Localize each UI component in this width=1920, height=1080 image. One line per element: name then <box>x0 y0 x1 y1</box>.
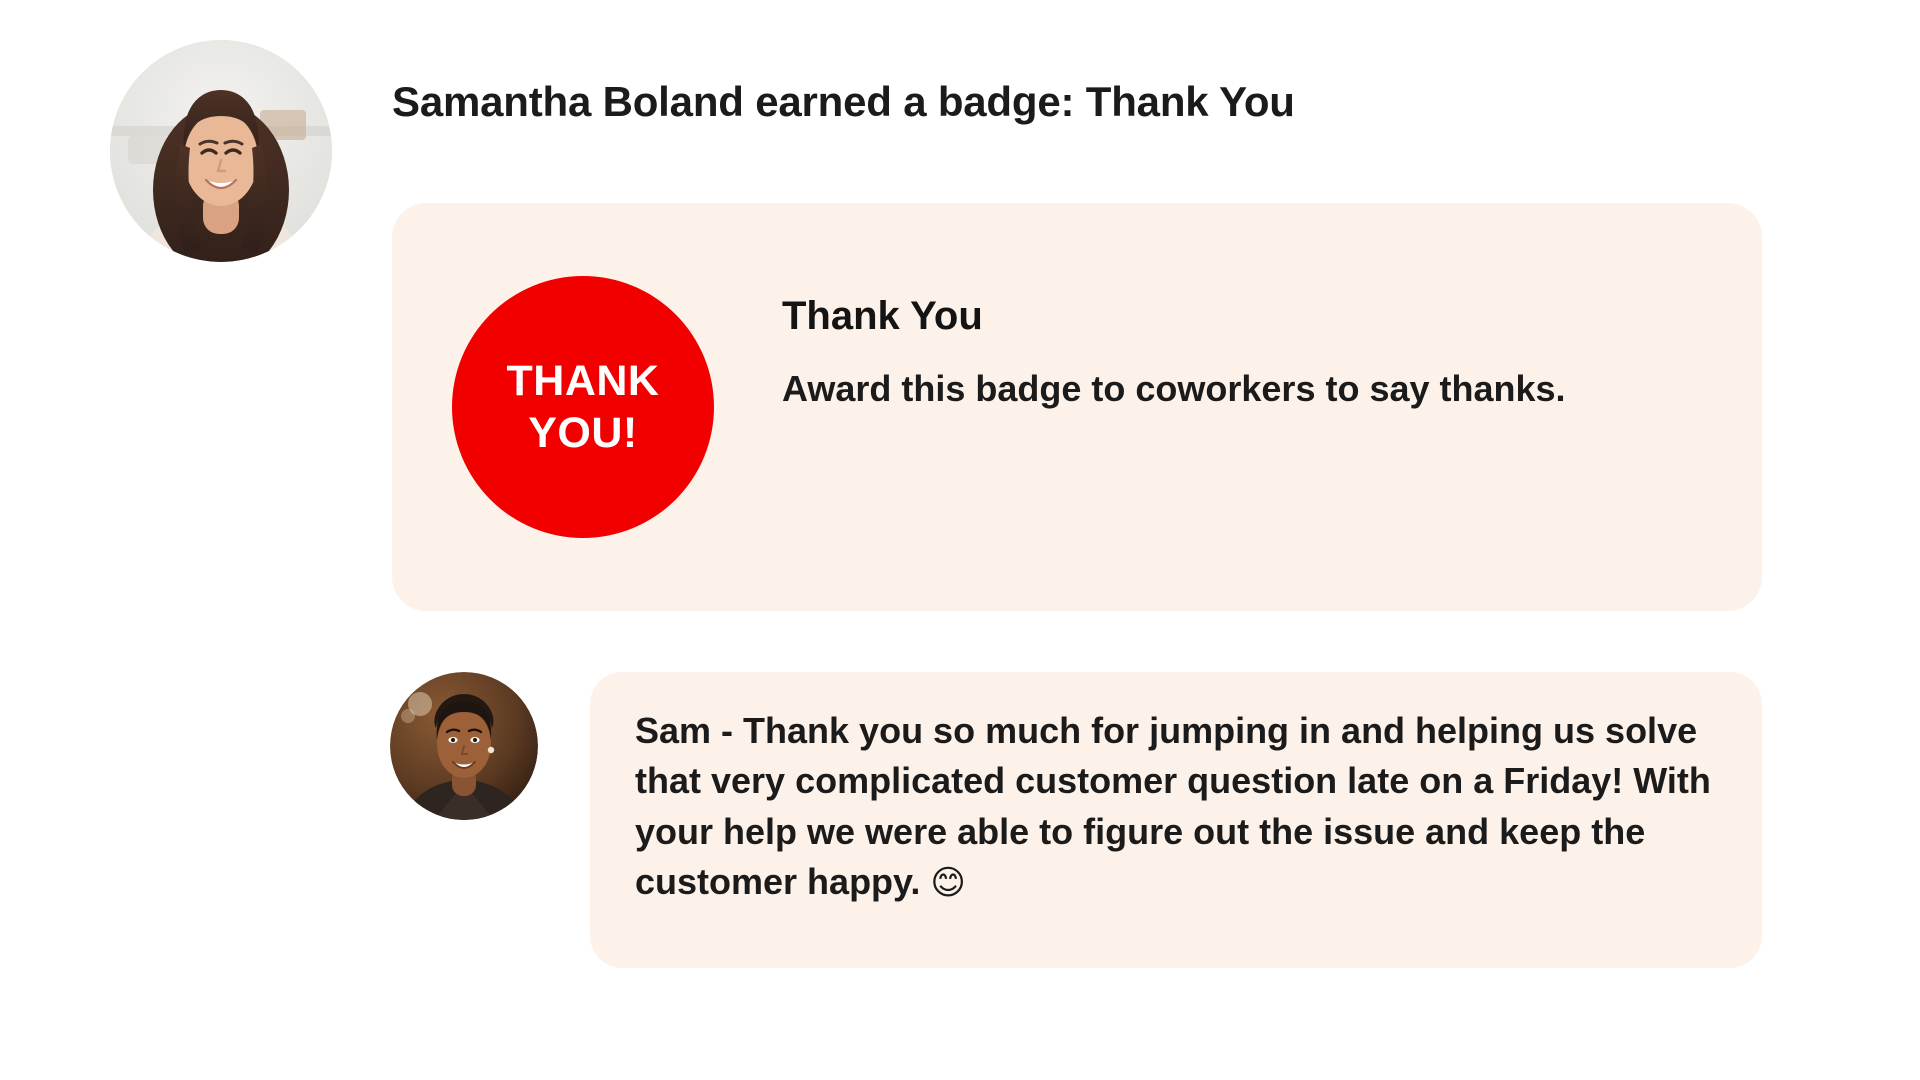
message-body-text: Sam - Thank you so much for jumping in a… <box>635 710 1711 902</box>
author-avatar[interactable] <box>110 40 332 262</box>
thank-you-badge-medallion: THANK YOU! <box>452 276 714 538</box>
message-card[interactable]: Sam - Thank you so much for jumping in a… <box>590 672 1762 968</box>
badge-description: Award this badge to coworkers to say tha… <box>782 363 1582 414</box>
badge-medallion-line-2: YOU! <box>528 407 638 459</box>
message-body: Sam - Thank you so much for jumping in a… <box>635 706 1725 908</box>
badge-card[interactable]: THANK YOU! Thank You Award this badge to… <box>392 203 1762 611</box>
smiling-face-emoji: 😊 <box>930 863 965 903</box>
badge-award-post: Samantha Boland earned a badge: Thank Yo… <box>0 0 1920 1080</box>
badge-title: Thank You <box>782 291 1612 341</box>
author-avatar-photo <box>110 40 332 262</box>
badge-medallion-line-1: THANK <box>507 355 660 407</box>
giver-avatar[interactable] <box>390 672 538 820</box>
badge-text-block: Thank You Award this badge to coworkers … <box>782 291 1612 414</box>
page-title: Samantha Boland earned a badge: Thank Yo… <box>392 78 1295 126</box>
giver-avatar-photo <box>390 672 538 820</box>
